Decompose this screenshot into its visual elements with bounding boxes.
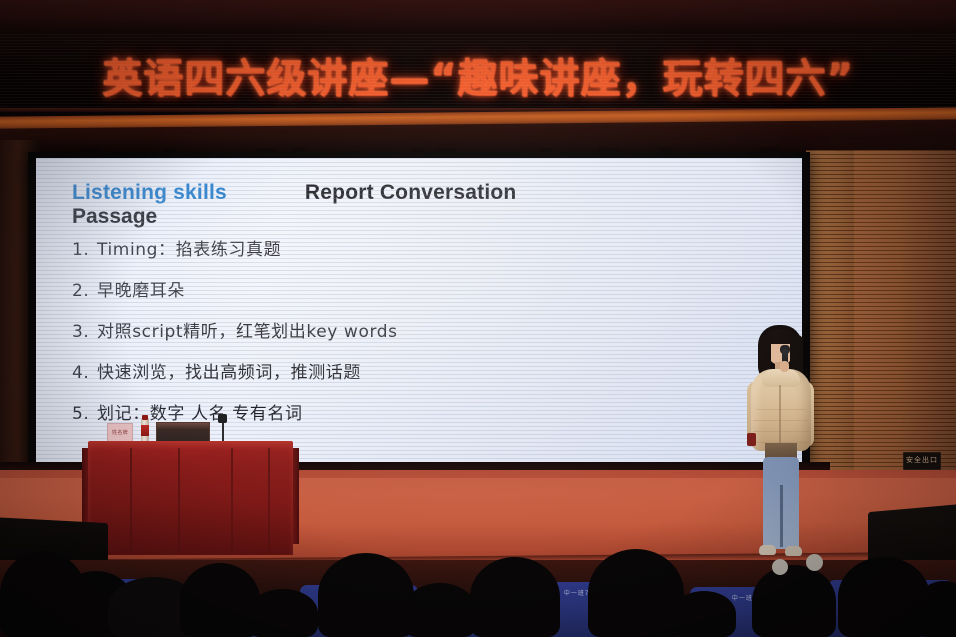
list-item-number: 5. (72, 404, 97, 424)
presenter-hand (780, 361, 789, 372)
wall-sign-text: 安全出口 (904, 455, 940, 465)
list-item-text: 早晚磨耳朵 (97, 281, 185, 301)
desk-microphone-head (218, 414, 227, 423)
drape-fold (130, 448, 132, 552)
slide-heading-row: Listening skills Report Conversation (72, 180, 776, 206)
list-item-text: 对照script精听，红笔划出key words (97, 322, 398, 342)
list-item: 2. 早晚磨耳朵 (72, 281, 776, 301)
table-drape (88, 443, 293, 555)
presenter-jacket-seam (779, 385, 781, 447)
audience-head (318, 553, 414, 637)
audience-head (470, 557, 560, 637)
list-item: 3. 对照script精听，红笔划出key words (72, 322, 776, 342)
audience-hair-bun (806, 554, 823, 571)
list-item-number: 4. (72, 363, 97, 383)
audience-hair-bun (772, 559, 788, 575)
led-banner: 英语四六级讲座—“趣味讲座，玩转四六” (0, 34, 956, 112)
projection-screen: Listening skills Report Conversation Pas… (36, 158, 802, 466)
presenter-phone (747, 433, 756, 446)
list-item: 1. Timing：掐表练习真题 (72, 240, 776, 260)
water-bottle-cap (142, 415, 148, 420)
list-item-text: 划记：数字 人名 专有名词 (97, 404, 303, 424)
drape-fold (231, 448, 233, 552)
water-bottle-label (141, 425, 149, 436)
presenter-shoe-right (785, 546, 802, 556)
presenter (735, 325, 825, 565)
list-item: 5. 划记：数字 人名 专有名词 (72, 404, 776, 424)
slide-content: Listening skills Report Conversation Pas… (36, 158, 802, 466)
presenter-jacket-collar (762, 369, 800, 387)
led-banner-inner: 英语四六级讲座—“趣味讲座，玩转四六” (0, 34, 956, 112)
auditorium-stage-photo: 英语四六级讲座—“趣味讲座，玩转四六” 安全出口 Listening skill… (0, 0, 956, 637)
presenter-jeans-gap (780, 485, 783, 547)
audience-head (672, 591, 736, 637)
list-item-text: Timing：掐表练习真题 (97, 240, 281, 260)
audience-head (588, 549, 684, 637)
slide-bullet-list: 1. Timing：掐表练习真题 2. 早晚磨耳朵 3. 对照script精听，… (72, 240, 776, 424)
audience-head (752, 565, 836, 637)
banner-title-text: 英语四六级讲座—“趣味讲座，玩转四六” (102, 46, 854, 104)
drape-fold (268, 448, 270, 552)
list-item-number: 2. (72, 281, 97, 301)
slide-heading-blue: Listening skills (72, 180, 227, 206)
slide-heading-line2: Passage (72, 205, 776, 229)
audience-head (248, 589, 318, 637)
presenter-shoe-left (759, 545, 776, 555)
slide-heading-black: Report Conversation (305, 180, 517, 206)
list-item: 4. 快速浏览，找出高频词，推测话题 (72, 363, 776, 383)
list-item-number: 1. (72, 240, 97, 260)
list-item-text: 快速浏览，找出高频词，推测话题 (97, 363, 361, 383)
name-card-text: 姓名牌 (108, 429, 132, 436)
list-item-number: 3. (72, 322, 97, 342)
drape-fold (178, 448, 180, 552)
wall-sign-plate: 安全出口 (903, 452, 941, 470)
audience-head (404, 583, 476, 637)
